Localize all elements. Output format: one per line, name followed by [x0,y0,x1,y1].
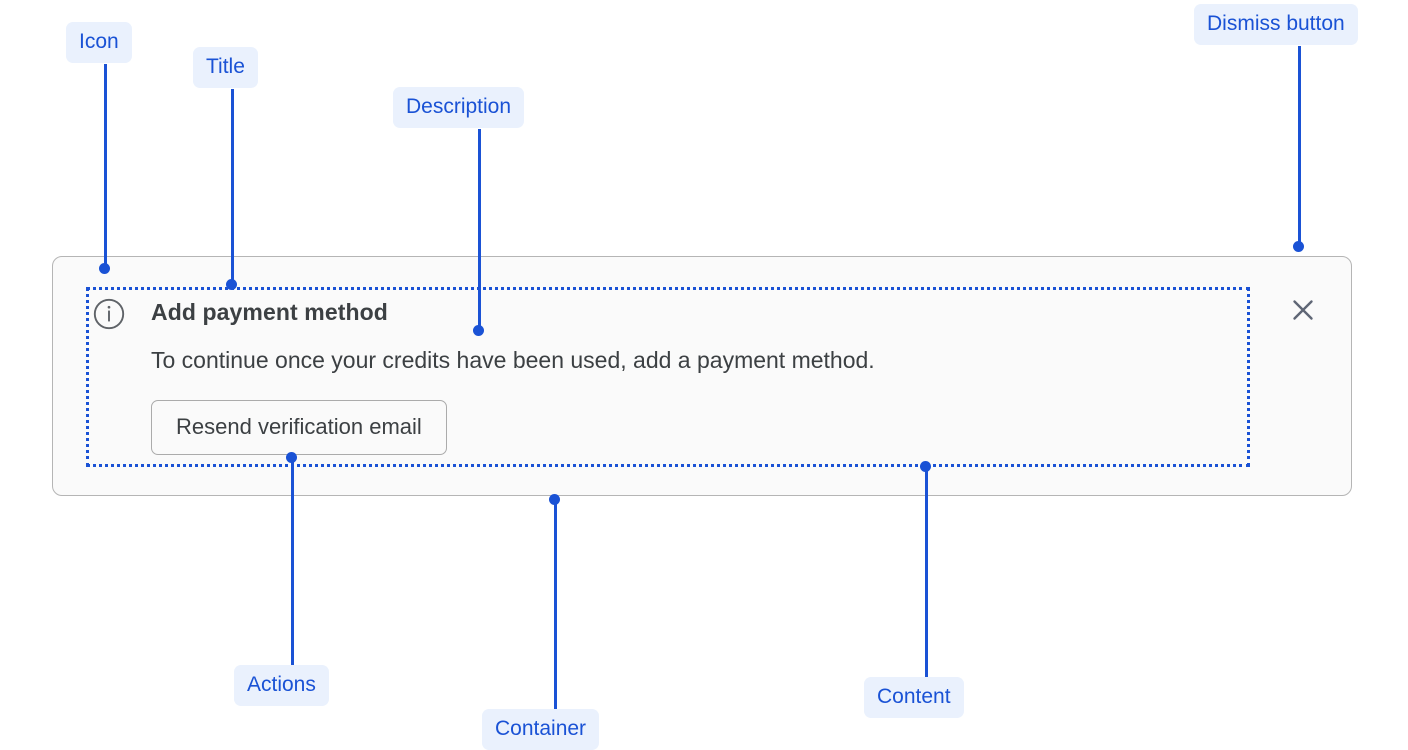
annotation-label-icon: Icon [66,22,132,63]
annotation-line-content [925,468,928,677]
alert-container: Add payment method To continue once your… [52,256,1352,496]
annotation-label-dismiss-button: Dismiss button [1194,4,1358,45]
annotation-line-container [554,500,557,709]
alert-description: To continue once your credits have been … [151,344,1241,376]
alert-content: Add payment method To continue once your… [86,287,1250,467]
annotation-label-description: Description [393,87,524,128]
annotation-label-title: Title [193,47,258,88]
resend-verification-email-button[interactable]: Resend verification email [151,400,447,455]
annotation-label-actions: Actions [234,665,329,706]
info-circle-icon [92,297,126,331]
alert-actions: Resend verification email [151,400,1241,455]
close-icon [1288,295,1318,325]
dismiss-button[interactable] [1286,293,1320,327]
annotation-line-dismiss-button [1298,46,1301,251]
alert-title: Add payment method [151,296,1241,328]
annotation-dot-dismiss-button [1293,241,1304,252]
annotation-line-title [231,89,234,283]
annotation-label-container: Container [482,709,599,750]
annotation-label-content: Content [864,677,964,718]
annotation-line-icon [104,64,107,267]
alert-text-block: Add payment method To continue once your… [151,290,1241,455]
